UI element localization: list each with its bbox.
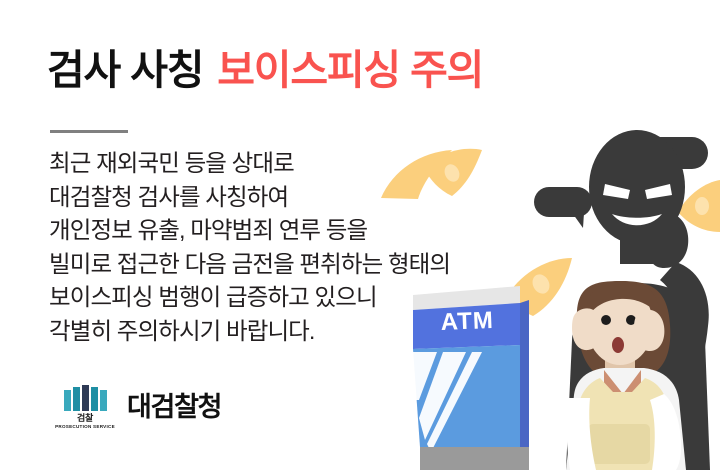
body-line: 개인정보 유출, 마약범죄 연루 등을: [49, 214, 450, 248]
banner-title: 검사 사칭 보이스피싱 주의: [47, 50, 483, 91]
body-line: 보이스피싱 범행이 급증하고 있으니: [49, 281, 450, 315]
victim-mouth-icon: [612, 337, 624, 353]
logo-mark-label-kr: 검찰: [77, 414, 93, 423]
logo-mark: 검찰 PROSECUTION SERVICE: [56, 385, 114, 430]
title-black-segment: 검사 사칭: [47, 50, 203, 91]
logo-mark-label-en: PROSECUTION SERVICE: [55, 425, 115, 430]
title-divider: [50, 130, 128, 133]
logo-bars-icon: [64, 385, 107, 411]
body-line: 대검찰청 검사를 사칭하여: [49, 181, 450, 215]
body-line: 각별히 주의하시기 바랍니다.: [49, 315, 450, 349]
victim-eye-icon: [601, 315, 611, 325]
logo-wordmark: 대검찰청: [127, 394, 221, 421]
atm-side-panel: [520, 300, 529, 447]
speech-bubble-icon: [534, 187, 592, 228]
body-text: 최근 재외국민 등을 상대로 대검찰청 검사를 사칭하여 개인정보 유출, 마약…: [49, 147, 450, 348]
victim-apron-pocket: [588, 424, 650, 464]
prosecution-service-logo: 검찰 PROSECUTION SERVICE 대검찰청: [56, 385, 221, 430]
banknote-highlight-icon: [695, 197, 709, 215]
body-line: 빌미로 접근한 다음 금전을 편취하는 형태의: [49, 248, 450, 282]
title-red-segment: 보이스피싱 주의: [217, 50, 483, 91]
atm-base: [420, 447, 529, 470]
body-line: 최근 재외국민 등을 상대로: [49, 147, 450, 181]
victim-hand-left: [572, 308, 602, 350]
voice-phishing-warning-banner: 검사 사칭 보이스피싱 주의 최근 재외국민 등을 상대로 대검찰청 검사를 사…: [0, 0, 720, 470]
